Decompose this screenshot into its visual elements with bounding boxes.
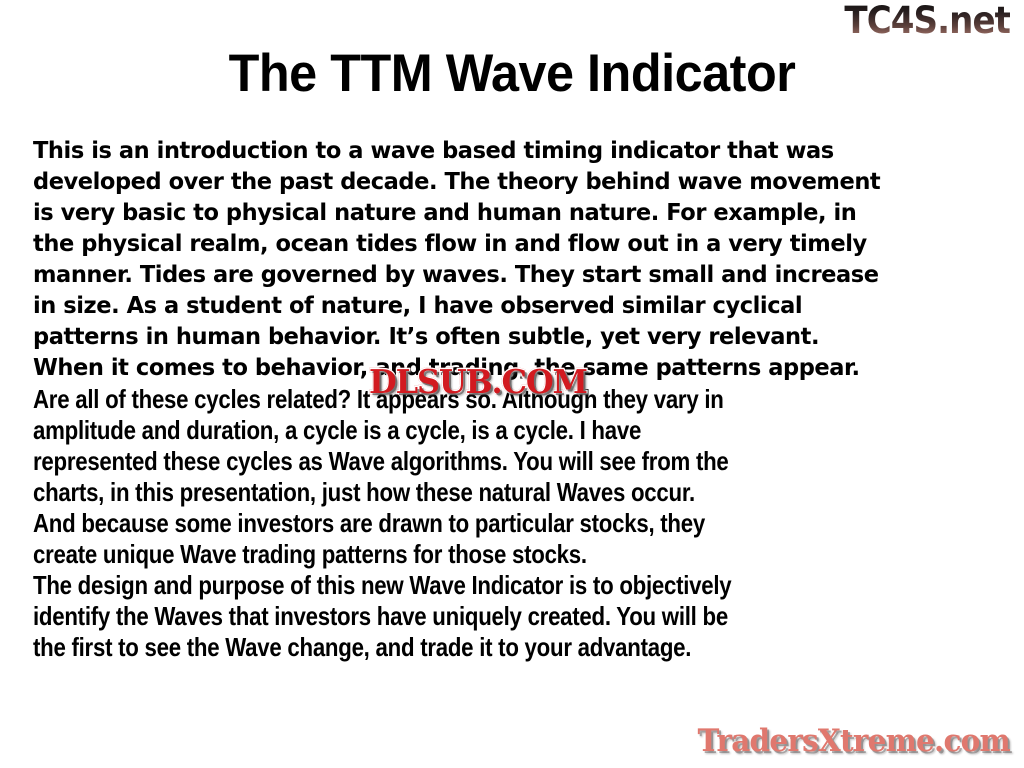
body-line: identify the Waves that investors have u…	[33, 601, 861, 632]
body-line: the physical realm, ocean tides flow in …	[33, 229, 982, 260]
presentation-slide: TC4S.net The TTM Wave Indicator This is …	[0, 0, 1024, 768]
body-line: charts, in this presentation, just how t…	[33, 477, 861, 508]
body-line: is very basic to physical nature and hum…	[33, 198, 982, 229]
body-line: The design and purpose of this new Wave …	[33, 570, 861, 601]
body-line: manner. Tides are governed by waves. The…	[33, 260, 982, 291]
dlsub-watermark-text: DLSUB.COM	[369, 362, 587, 401]
body-line: patterns in human behavior. It’s often s…	[33, 322, 982, 353]
dlsub-watermark: DLSUB.COM	[369, 365, 587, 398]
body-line: create unique Wave trading patterns for …	[33, 539, 861, 570]
body-line: developed over the past decade. The theo…	[33, 167, 982, 198]
tradersxtreme-watermark: TradersXtreme.com	[698, 724, 1010, 758]
tc4s-brand-logo: TC4S.net	[844, 2, 1010, 41]
page-title: The TTM Wave Indicator	[26, 44, 999, 103]
body-line: And because some investors are drawn to …	[33, 508, 861, 539]
body-line: represented these cycles as Wave algorit…	[33, 446, 861, 477]
body-line: the first to see the Wave change, and tr…	[33, 632, 861, 663]
body-line: This is an introduction to a wave based …	[33, 136, 982, 167]
body-line: in size. As a student of nature, I have …	[33, 291, 982, 322]
body-line: amplitude and duration, a cycle is a cyc…	[33, 415, 861, 446]
